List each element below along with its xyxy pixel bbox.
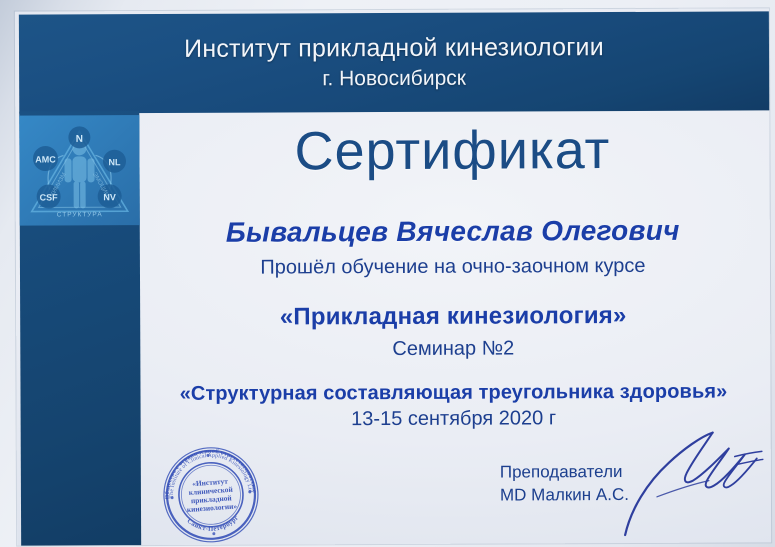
- organization-name: Институт прикладной кинезиологии: [184, 33, 604, 64]
- stamp-icon: Общество с ограниченной ответственностью…: [155, 439, 266, 547]
- kinesiology-triangle-icon: N AMC NL CSF NV СТРУКТУРА ХИМИЗМ: [19, 115, 139, 226]
- svg-text:СТРУКТУРА: СТРУКТУРА: [57, 211, 103, 218]
- svg-text:N: N: [76, 134, 83, 145]
- svg-text:NL: NL: [108, 157, 121, 167]
- seminar-number: Семинар №2: [140, 336, 766, 362]
- header-banner: Институт прикладной кинезиологии г. Ново…: [19, 11, 769, 113]
- signature-block: Преподаватели MD Малкин А.С.: [500, 461, 629, 507]
- organization-city: г. Новосибирск: [322, 66, 466, 91]
- certificate-title: Сертификат: [139, 118, 765, 183]
- certificate-paper: Институт прикладной кинезиологии г. Ново…: [15, 8, 771, 545]
- course-topic: «Структурная составляющая треугольника з…: [140, 380, 766, 406]
- recipient-name: Бывальцев Вячеслав Олегович: [140, 214, 766, 249]
- logo-panel: N AMC NL CSF NV СТРУКТУРА ХИМИЗМ: [19, 115, 139, 226]
- completion-text: Прошёл обучение на очно-заочном курсе: [140, 254, 766, 280]
- signature-icon: [617, 426, 775, 547]
- signer-name: MD Малкин А.С.: [500, 484, 629, 508]
- handwritten-signature: [617, 426, 775, 547]
- official-seal: Общество с ограниченной ответственностью…: [155, 439, 266, 547]
- course-name: «Прикладная кинезиология»: [140, 301, 766, 332]
- certificate-photo: Институт прикладной кинезиологии г. Ново…: [0, 0, 775, 547]
- svg-text:AMC: AMC: [35, 154, 56, 164]
- teachers-label: Преподаватели: [500, 461, 629, 485]
